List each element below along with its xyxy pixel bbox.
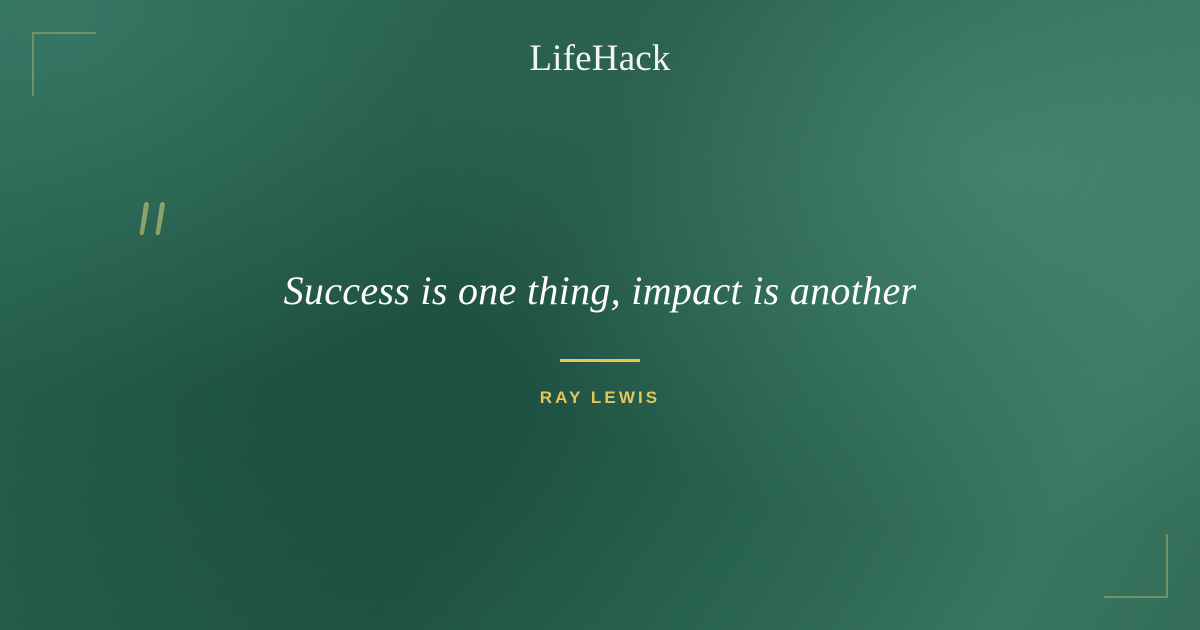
corner-bracket-bottom-right-icon: [1104, 534, 1168, 598]
double-quote-icon: [136, 200, 180, 244]
quote-card: LifeHack Success is one thing, impact is…: [0, 0, 1200, 630]
quote-block: Success is one thing, impact is another …: [0, 266, 1200, 408]
quote-author: RAY LEWIS: [0, 388, 1200, 408]
quote-divider: [560, 359, 640, 362]
quote-text: Success is one thing, impact is another: [0, 266, 1200, 316]
lifehack-logo: LifeHack: [0, 40, 1200, 77]
